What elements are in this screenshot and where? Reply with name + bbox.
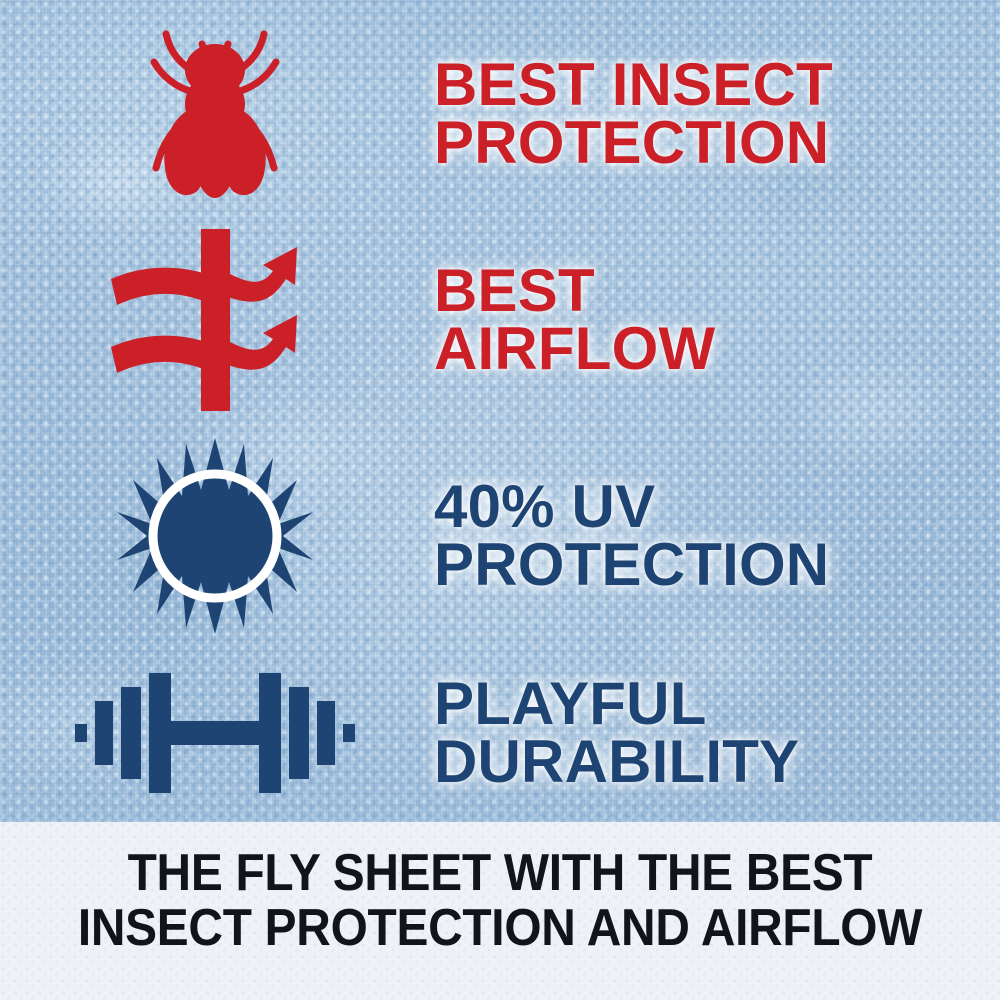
dumbbell-icon — [75, 671, 355, 795]
feature-text-cell: BEST AIRFLOW — [430, 262, 1000, 378]
sun-icon — [115, 436, 315, 636]
poster-tagline: THE FLY SHEET WITH THE BEST INSECT PROTE… — [40, 846, 960, 956]
feature-row-insect-protection: BEST INSECT PROTECTION — [0, 14, 1000, 214]
fly-icon — [140, 22, 290, 207]
feature-label-insect-protection: BEST INSECT PROTECTION — [434, 56, 1000, 172]
caption-band: THE FLY SHEET WITH THE BEST INSECT PROTE… — [0, 822, 1000, 1000]
feature-icon-cell — [0, 436, 430, 636]
feature-icon-cell — [0, 22, 430, 207]
feature-label-airflow: BEST AIRFLOW — [434, 262, 1000, 378]
feature-text-cell: BEST INSECT PROTECTION — [430, 56, 1000, 172]
feature-row-durability: PLAYFUL DURABILITY — [0, 648, 1000, 818]
feature-label-durability: PLAYFUL DURABILITY — [434, 675, 1000, 791]
feature-icon-cell — [0, 671, 430, 795]
feature-icon-cell — [0, 229, 430, 411]
feature-text-cell: 40% UV PROTECTION — [430, 478, 1000, 594]
feature-row-airflow: BEST AIRFLOW — [0, 220, 1000, 420]
feature-list: BEST INSECT PROTECTION — [0, 0, 1000, 822]
airflow-arrows-icon — [107, 229, 323, 411]
product-feature-poster: BEST INSECT PROTECTION — [0, 0, 1000, 1000]
feature-row-uv-protection: 40% UV PROTECTION — [0, 430, 1000, 642]
feature-text-cell: PLAYFUL DURABILITY — [430, 675, 1000, 791]
feature-label-uv-protection: 40% UV PROTECTION — [434, 478, 1000, 594]
